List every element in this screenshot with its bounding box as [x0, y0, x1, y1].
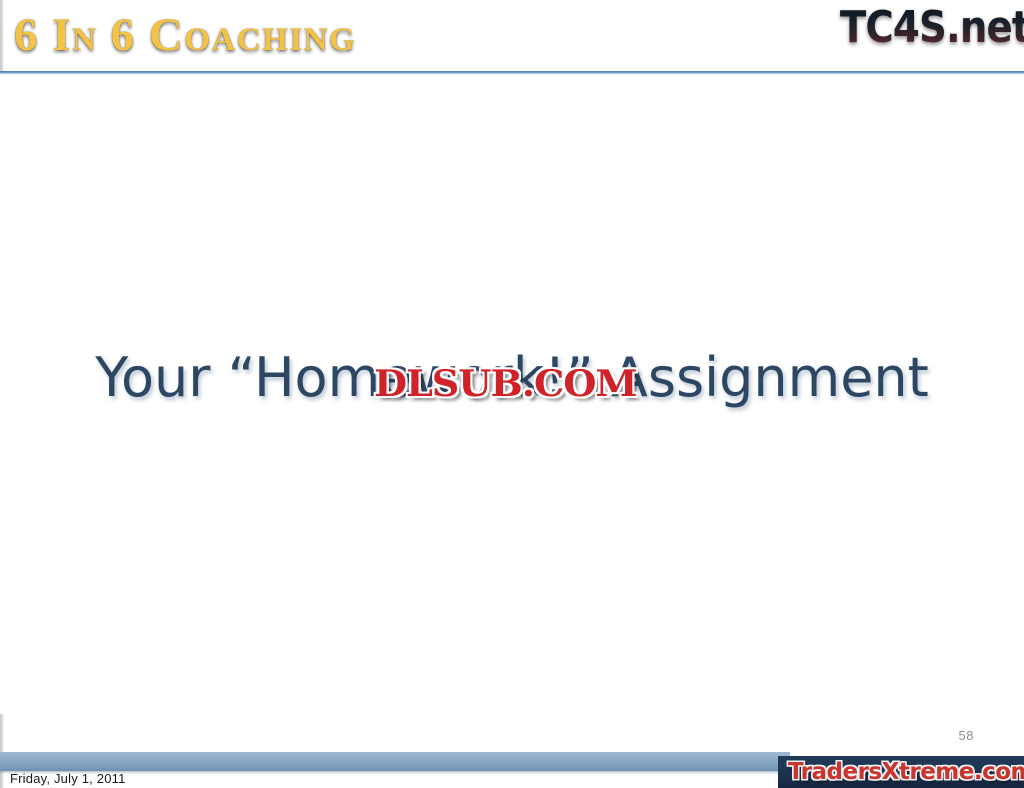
slide-number: 58	[959, 728, 974, 743]
footer-gradient-bar	[0, 752, 790, 771]
course-brand-title: 6 In 6 Coaching	[14, 4, 356, 66]
tc4s-logo: TC4S.net	[840, 0, 1024, 58]
dlsub-watermark: DLSUB.COM	[374, 363, 637, 405]
tradersxtreme-logo: TradersXtreme.com	[788, 757, 1024, 787]
slide-header-banner: 6 In 6 Coaching TC4S.net	[0, 0, 1024, 71]
presentation-slide: 6 In 6 Coaching TC4S.net Your “Homework!…	[0, 0, 1024, 788]
footer-date: Friday, July 1, 2011	[10, 770, 126, 788]
